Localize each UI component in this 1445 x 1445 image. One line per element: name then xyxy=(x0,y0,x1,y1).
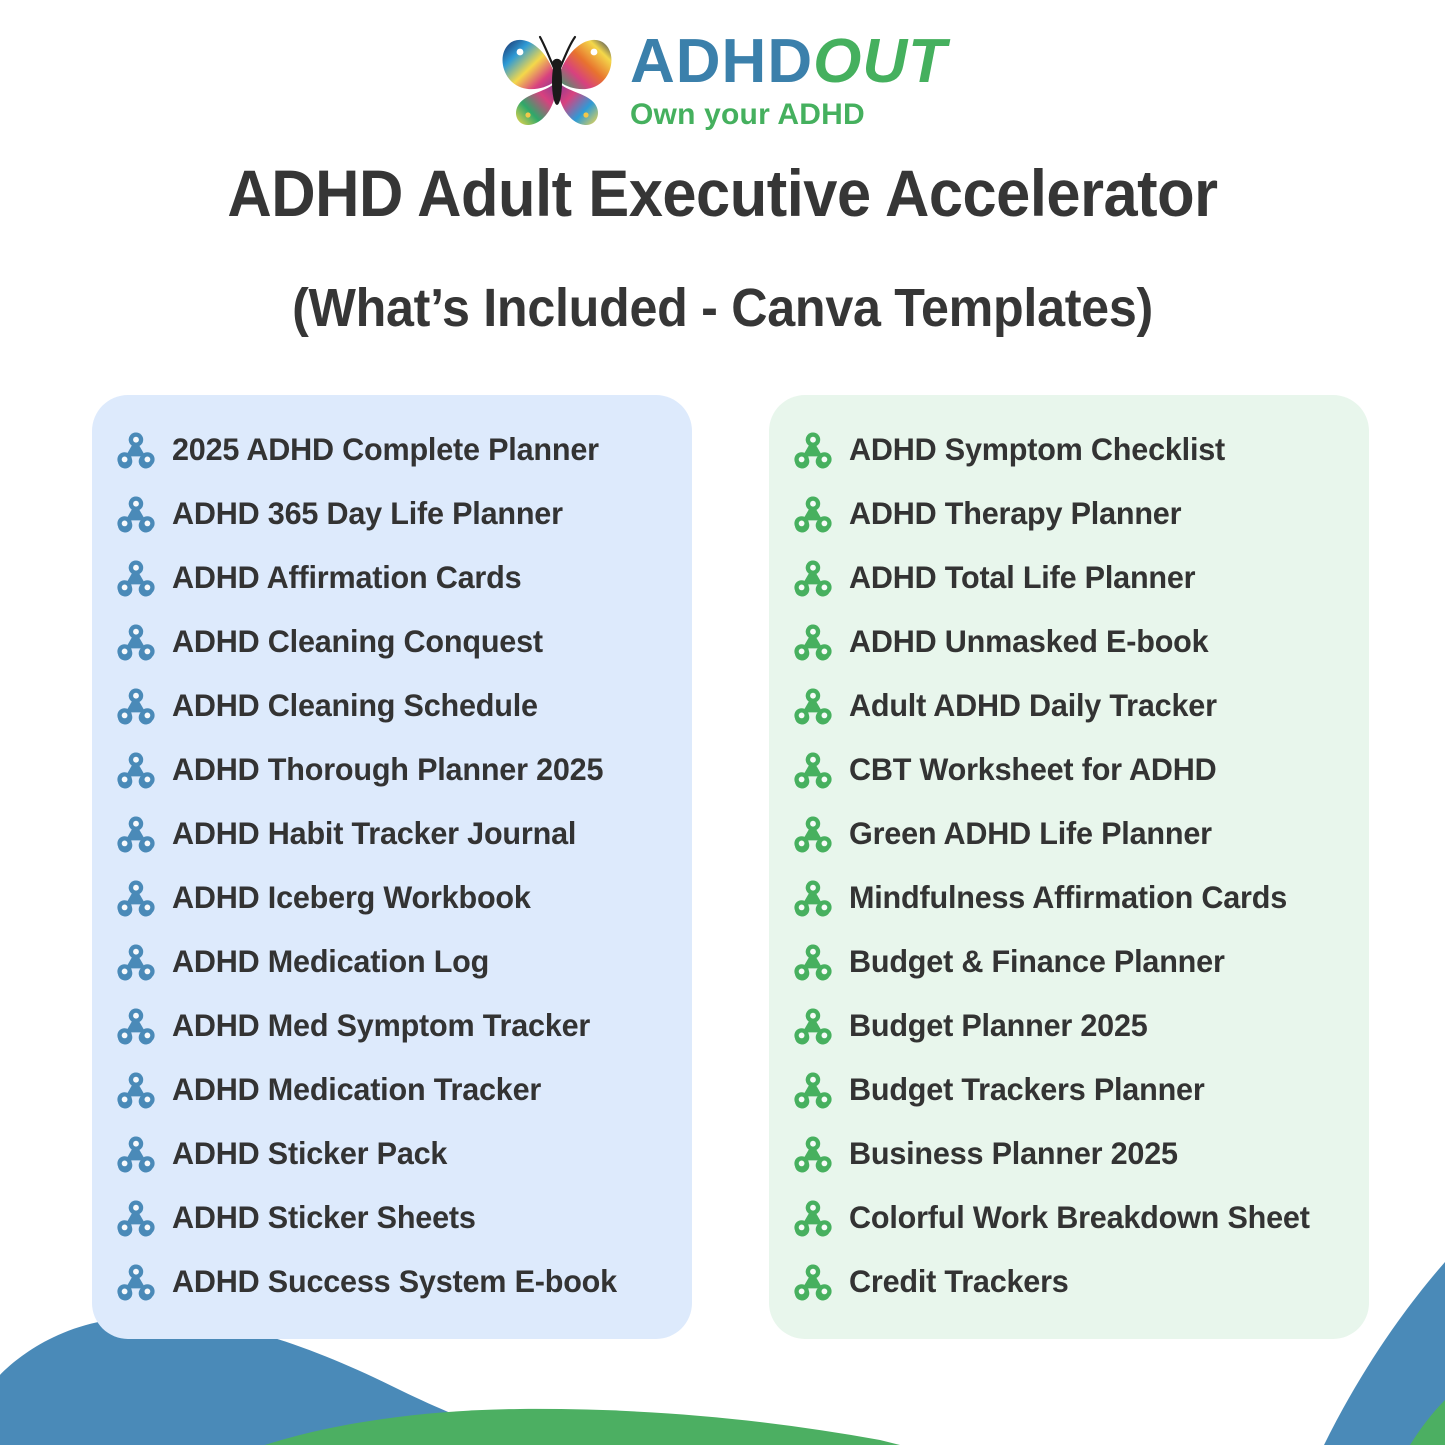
list-item: 2025 ADHD Complete Planner xyxy=(92,417,692,481)
fidget-spinner-icon xyxy=(791,939,835,983)
list-item: Budget Trackers Planner xyxy=(769,1057,1369,1121)
list-item: ADHD Med Symptom Tracker xyxy=(92,993,692,1057)
list-item: Adult ADHD Daily Tracker xyxy=(769,673,1369,737)
list-item: ADHD Sticker Sheets xyxy=(92,1185,692,1249)
list-item-label: ADHD Med Symptom Tracker xyxy=(172,1007,590,1044)
list-item-label: ADHD Cleaning Schedule xyxy=(172,687,538,724)
list-item: ADHD Success System E-book xyxy=(92,1249,692,1313)
list-item-label: CBT Worksheet for ADHD xyxy=(849,751,1217,788)
fidget-spinner-icon xyxy=(791,683,835,727)
list-item: ADHD Unmasked E-book xyxy=(769,609,1369,673)
brand-wordmark: ADHDOUT xyxy=(630,30,947,93)
list-item: ADHD Sticker Pack xyxy=(92,1121,692,1185)
list-item: Budget Planner 2025 xyxy=(769,993,1369,1057)
fidget-spinner-icon xyxy=(791,1131,835,1175)
green-hill-shape xyxy=(265,1409,900,1445)
fidget-spinner-icon xyxy=(114,1067,158,1111)
fidget-spinner-icon xyxy=(114,1259,158,1303)
list-item-label: Credit Trackers xyxy=(849,1263,1069,1300)
list-item: ADHD 365 Day Life Planner xyxy=(92,481,692,545)
brand-tagline: Own your ADHD xyxy=(630,98,865,132)
list-item: ADHD Iceberg Workbook xyxy=(92,865,692,929)
included-items-cards: 2025 ADHD Complete PlannerADHD 365 Day L… xyxy=(0,395,1445,1325)
page-title: ADHD Adult Executive Accelerator xyxy=(51,158,1395,229)
list-item-label: ADHD Therapy Planner xyxy=(849,495,1181,532)
list-item-label: ADHD Habit Tracker Journal xyxy=(172,815,576,852)
wordmark-adhd: ADHD xyxy=(630,27,813,96)
fidget-spinner-icon xyxy=(791,875,835,919)
butterfly-logo-icon xyxy=(498,24,616,134)
list-item: CBT Worksheet for ADHD xyxy=(769,737,1369,801)
list-item-label: Budget Trackers Planner xyxy=(849,1071,1205,1108)
list-item: ADHD Habit Tracker Journal xyxy=(92,801,692,865)
fidget-spinner-icon xyxy=(114,427,158,471)
list-item: ADHD Affirmation Cards xyxy=(92,545,692,609)
list-item-label: ADHD Thorough Planner 2025 xyxy=(172,751,603,788)
fidget-spinner-icon xyxy=(791,747,835,791)
fidget-spinner-icon xyxy=(114,555,158,599)
left-items-card: 2025 ADHD Complete PlannerADHD 365 Day L… xyxy=(92,395,692,1339)
right-items-card: ADHD Symptom ChecklistADHD Therapy Plann… xyxy=(769,395,1369,1339)
list-item-label: Business Planner 2025 xyxy=(849,1135,1178,1172)
fidget-spinner-icon xyxy=(791,811,835,855)
list-item-label: 2025 ADHD Complete Planner xyxy=(172,431,599,468)
list-item-label: Budget Planner 2025 xyxy=(849,1007,1148,1044)
list-item-label: Mindfulness Affirmation Cards xyxy=(849,879,1287,916)
list-item: Green ADHD Life Planner xyxy=(769,801,1369,865)
list-item: ADHD Medication Tracker xyxy=(92,1057,692,1121)
fidget-spinner-icon xyxy=(791,1067,835,1111)
list-item-label: ADHD Cleaning Conquest xyxy=(172,623,543,660)
green-sliver-shape xyxy=(1410,1400,1445,1445)
fidget-spinner-icon xyxy=(791,491,835,535)
fidget-spinner-icon xyxy=(114,747,158,791)
list-item-label: ADHD Symptom Checklist xyxy=(849,431,1225,468)
fidget-spinner-icon xyxy=(114,1131,158,1175)
fidget-spinner-icon xyxy=(114,939,158,983)
list-item-label: Budget & Finance Planner xyxy=(849,943,1225,980)
page-subtitle: (What’s Included - Canva Templates) xyxy=(51,279,1395,337)
list-item-label: ADHD Success System E-book xyxy=(172,1263,617,1300)
list-item-label: ADHD Total Life Planner xyxy=(849,559,1195,596)
list-item: Mindfulness Affirmation Cards xyxy=(769,865,1369,929)
fidget-spinner-icon xyxy=(791,427,835,471)
list-item: ADHD Cleaning Schedule xyxy=(92,673,692,737)
list-item-label: ADHD Sticker Pack xyxy=(172,1135,447,1172)
fidget-spinner-icon xyxy=(791,619,835,663)
list-item: Credit Trackers xyxy=(769,1249,1369,1313)
list-item-label: ADHD Medication Tracker xyxy=(172,1071,541,1108)
fidget-spinner-icon xyxy=(791,1003,835,1047)
list-item-label: ADHD Sticker Sheets xyxy=(172,1199,476,1236)
wordmark-out: OUT xyxy=(813,27,947,96)
list-item-label: ADHD 365 Day Life Planner xyxy=(172,495,563,532)
list-item: Colorful Work Breakdown Sheet xyxy=(769,1185,1369,1249)
list-item-label: Green ADHD Life Planner xyxy=(849,815,1212,852)
list-item: Budget & Finance Planner xyxy=(769,929,1369,993)
list-item-label: Colorful Work Breakdown Sheet xyxy=(849,1199,1310,1236)
fidget-spinner-icon xyxy=(791,1259,835,1303)
list-item: ADHD Thorough Planner 2025 xyxy=(92,737,692,801)
list-item: ADHD Cleaning Conquest xyxy=(92,609,692,673)
brand-logo: ADHDOUT Own your ADHD xyxy=(0,24,1445,134)
list-item-label: Adult ADHD Daily Tracker xyxy=(849,687,1217,724)
fidget-spinner-icon xyxy=(791,555,835,599)
fidget-spinner-icon xyxy=(114,811,158,855)
list-item-label: ADHD Iceberg Workbook xyxy=(172,879,531,916)
fidget-spinner-icon xyxy=(114,683,158,727)
fidget-spinner-icon xyxy=(114,875,158,919)
fidget-spinner-icon xyxy=(114,1195,158,1239)
fidget-spinner-icon xyxy=(114,1003,158,1047)
list-item: ADHD Medication Log xyxy=(92,929,692,993)
list-item-label: ADHD Medication Log xyxy=(172,943,489,980)
fidget-spinner-icon xyxy=(114,619,158,663)
list-item-label: ADHD Affirmation Cards xyxy=(172,559,521,596)
list-item-label: ADHD Unmasked E-book xyxy=(849,623,1208,660)
list-item: Business Planner 2025 xyxy=(769,1121,1369,1185)
list-item: ADHD Total Life Planner xyxy=(769,545,1369,609)
fidget-spinner-icon xyxy=(114,491,158,535)
page-headings: ADHD Adult Executive Accelerator (What’s… xyxy=(0,158,1445,338)
fidget-spinner-icon xyxy=(791,1195,835,1239)
list-item: ADHD Symptom Checklist xyxy=(769,417,1369,481)
list-item: ADHD Therapy Planner xyxy=(769,481,1369,545)
